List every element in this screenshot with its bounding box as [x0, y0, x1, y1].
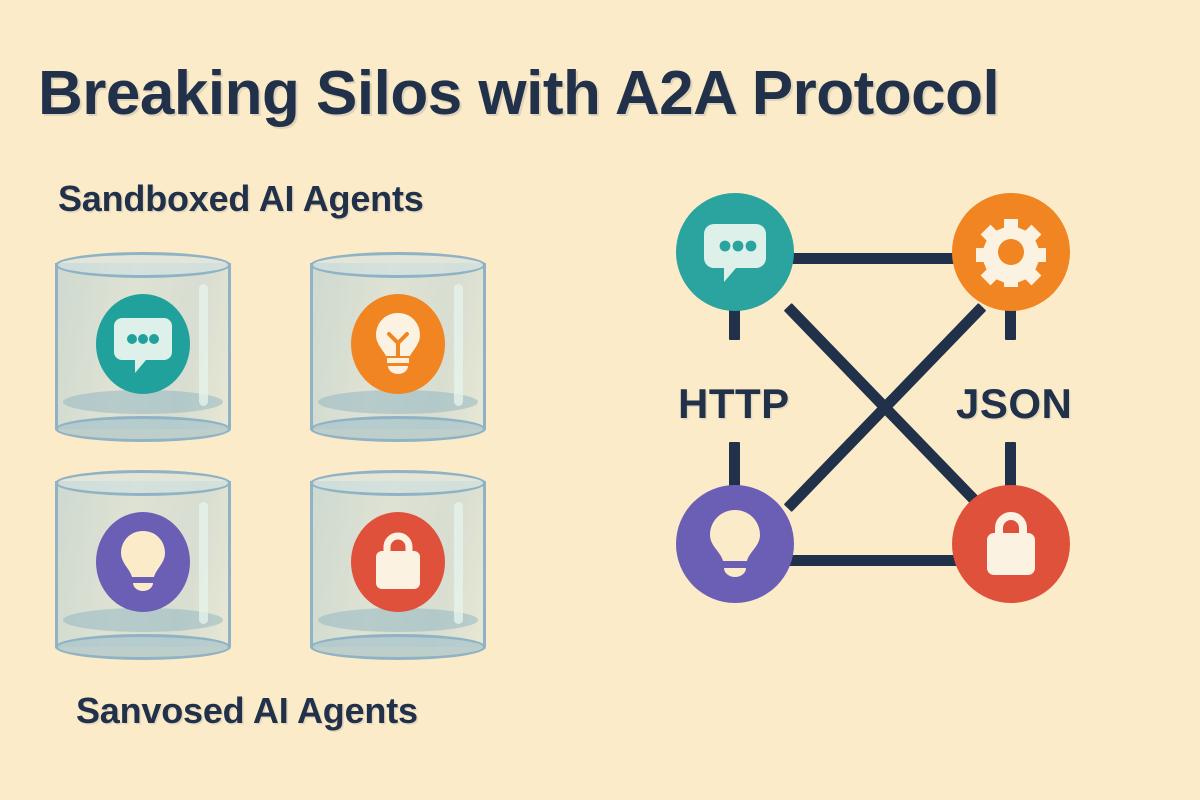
jar-rim-bottom [310, 416, 486, 442]
edge-chat-to-gear [788, 253, 958, 264]
jar-rim-bottom [310, 634, 486, 660]
sandbox-jar-grid [55, 252, 495, 662]
lightbulb-icon [96, 512, 190, 612]
jar-rim-top [310, 252, 486, 278]
jar-highlight [454, 284, 463, 406]
jar-rim-top [55, 252, 231, 278]
jar-highlight [454, 502, 463, 624]
sandbox-jar-idea[interactable] [310, 252, 486, 440]
jar-highlight [199, 502, 208, 624]
graph-node-gear[interactable] [952, 193, 1070, 311]
sandbox-jar-chat[interactable] [55, 252, 231, 440]
jar-highlight [199, 284, 208, 406]
sandbox-jar-reasoning[interactable] [55, 470, 231, 658]
a2a-network-graph: HTTP JSON [660, 180, 1110, 640]
jar-rim-bottom [55, 416, 231, 442]
chat-bubble-icon [702, 220, 768, 284]
page-title: Breaking Silos with A2A Protocol [38, 58, 999, 129]
graph-node-commerce[interactable] [952, 485, 1070, 603]
chat-bubble-icon [96, 294, 190, 394]
lightbulb-icon [706, 507, 764, 581]
jar-rim-top [55, 470, 231, 496]
jar-rim-bottom [55, 634, 231, 660]
shopping-bag-icon [351, 512, 445, 612]
sandbox-jar-commerce[interactable] [310, 470, 486, 658]
graph-node-chat[interactable] [676, 193, 794, 311]
lightbulb-icon [351, 294, 445, 394]
edge-label-json: JSON [956, 380, 1072, 428]
shopping-bag-icon [979, 509, 1043, 579]
edge-idea-to-commerce [788, 555, 958, 566]
sandboxed-agents-caption-bottom: Sanvosed AI Agents [76, 690, 418, 732]
gear-icon [976, 217, 1046, 287]
edge-label-http: HTTP [678, 380, 790, 428]
graph-node-idea[interactable] [676, 485, 794, 603]
poster-canvas: Breaking Silos with A2A Protocol Sandbox… [0, 0, 1200, 800]
sandboxed-agents-caption-top: Sandboxed AI Agents [58, 178, 424, 220]
jar-rim-top [310, 470, 486, 496]
